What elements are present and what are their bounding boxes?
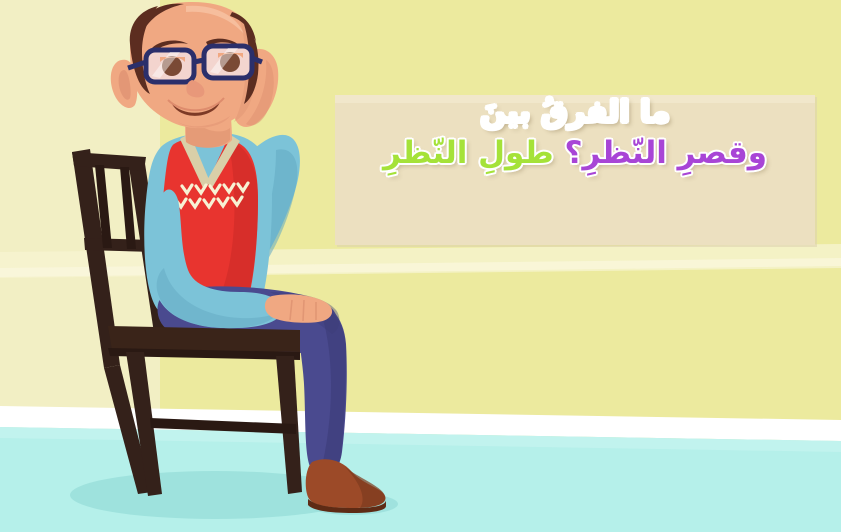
chair-stretcher [150, 418, 296, 434]
chair-front-layer [0, 0, 841, 532]
illustration-canvas: ما الفرقُ بينَ وقصرِ النّظرِ؟ طولِ النّظ… [0, 0, 841, 532]
chair-front [108, 326, 302, 496]
chair-seat [108, 326, 300, 352]
scene-root [0, 0, 841, 532]
